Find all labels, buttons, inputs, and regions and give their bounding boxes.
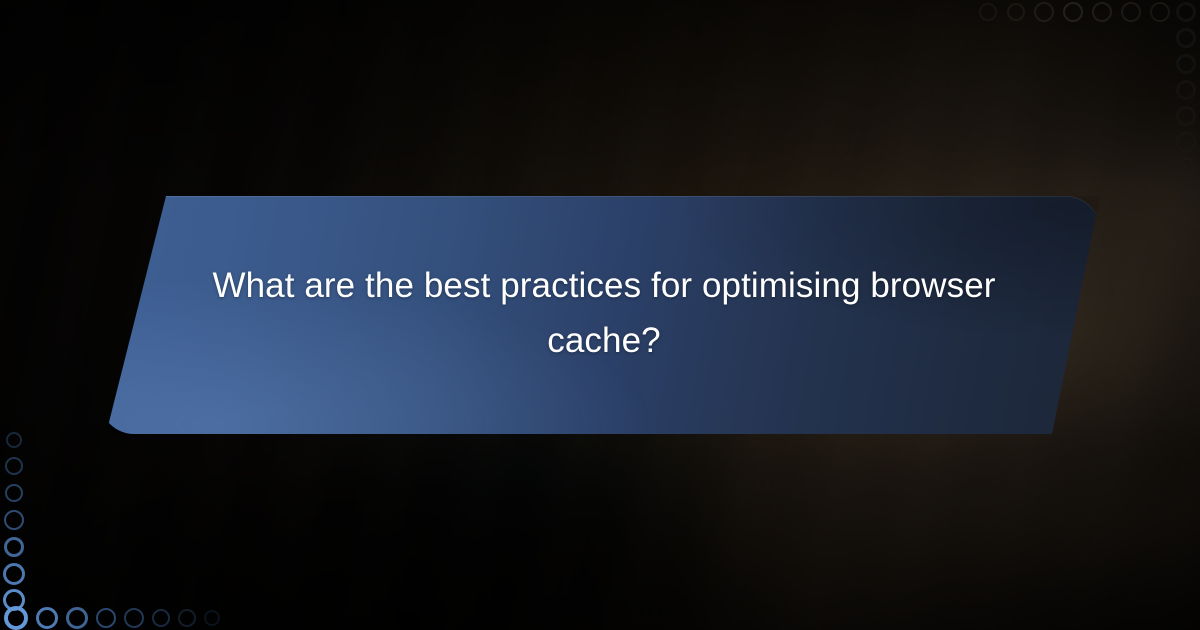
- decorative-ring: [1176, 80, 1196, 100]
- decorative-ring: [1121, 2, 1141, 22]
- decorative-ring: [1092, 2, 1112, 22]
- decorative-ring: [204, 610, 220, 626]
- decorative-ring: [1176, 2, 1196, 22]
- decorative-ring: [6, 432, 22, 448]
- decorative-ring: [979, 3, 997, 21]
- decorative-ring: [1150, 2, 1170, 22]
- decorative-rings-top-right: [970, 0, 1200, 210]
- decorative-rings-bottom-left: [0, 420, 230, 630]
- decorative-ring: [3, 563, 25, 585]
- decorative-ring: [1176, 106, 1196, 126]
- decorative-ring: [1007, 3, 1025, 21]
- decorative-ring: [152, 609, 170, 627]
- decorative-ring: [1176, 28, 1196, 48]
- decorative-ring: [124, 608, 144, 628]
- decorative-ring: [96, 608, 116, 628]
- decorative-ring: [1176, 54, 1196, 74]
- decorative-ring: [1034, 2, 1054, 22]
- decorative-ring: [36, 607, 58, 629]
- decorative-ring: [1063, 2, 1083, 22]
- decorative-ring: [5, 484, 23, 502]
- decorative-ring: [1177, 182, 1195, 200]
- decorative-ring: [5, 457, 23, 475]
- decorative-ring: [178, 609, 196, 627]
- decorative-ring: [4, 510, 24, 530]
- question-text: What are the best practices for optimisi…: [100, 196, 1100, 434]
- question-card-canvas: What are the best practices for optimisi…: [0, 0, 1200, 630]
- decorative-ring: [4, 606, 28, 630]
- decorative-ring: [4, 537, 24, 557]
- question-card: What are the best practices for optimisi…: [100, 196, 1100, 434]
- decorative-ring: [66, 607, 88, 629]
- decorative-ring: [1176, 132, 1196, 152]
- decorative-ring: [1177, 158, 1195, 176]
